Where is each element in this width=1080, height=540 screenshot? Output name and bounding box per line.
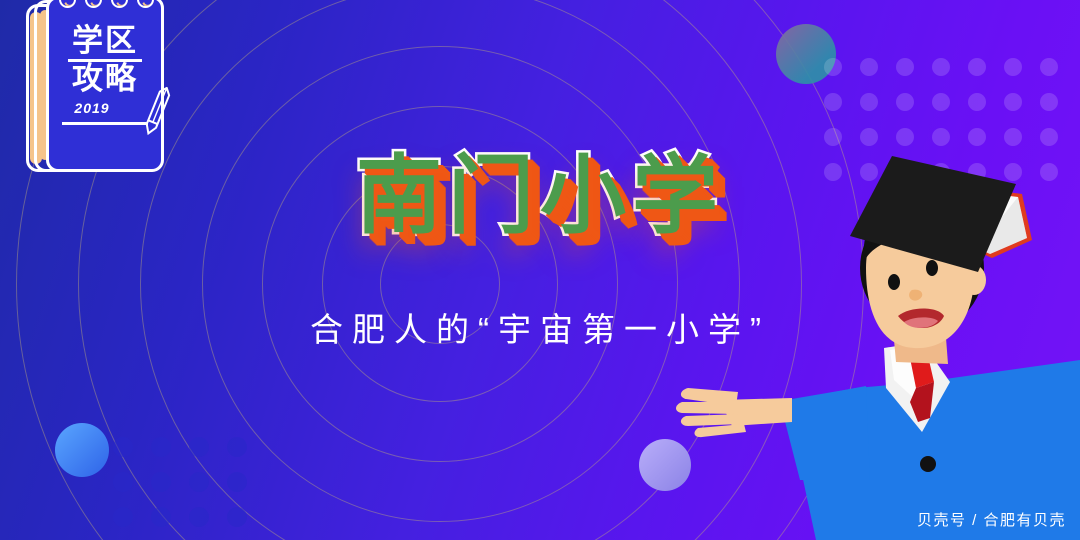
- spiral-ring: [111, 0, 128, 8]
- dot-grid-bottom-left: [113, 437, 265, 540]
- decorative-dot: [227, 437, 247, 457]
- decorative-dot: [1004, 93, 1022, 111]
- badge-line-2: 攻略: [72, 63, 138, 94]
- decorative-dot: [113, 472, 133, 492]
- robe-button: [920, 456, 936, 472]
- decorative-dot: [113, 507, 133, 527]
- ring: [202, 46, 678, 522]
- decorative-dot: [1040, 93, 1058, 111]
- decorative-dot: [896, 58, 914, 76]
- decorative-dot: [151, 437, 171, 457]
- decorative-dot: [968, 58, 986, 76]
- hand-icon: [676, 388, 792, 437]
- badge-line-1: 学区: [72, 25, 138, 56]
- spiral-ring: [85, 0, 102, 8]
- robe-sleeve: [780, 386, 870, 480]
- decorative-dot: [860, 58, 878, 76]
- decorative-dot: [968, 128, 986, 146]
- decorative-dot: [189, 437, 209, 457]
- decorative-dot: [932, 128, 950, 146]
- badge-rule-bottom: [62, 122, 148, 125]
- decorative-dot: [1040, 58, 1058, 76]
- decorative-dot: [1040, 128, 1058, 146]
- blue-gradient-circle: [55, 423, 109, 477]
- decorative-dot: [932, 93, 950, 111]
- decorative-dot: [151, 507, 171, 527]
- decorative-dot: [824, 128, 842, 146]
- decorative-dot: [932, 58, 950, 76]
- spiral-ring: [137, 0, 154, 8]
- decorative-dot: [860, 93, 878, 111]
- notepad-spiral-rings: [54, 0, 158, 16]
- spiral-ring: [59, 0, 76, 8]
- decorative-dot: [824, 58, 842, 76]
- decorative-dot: [227, 472, 247, 492]
- watermark: 贝壳号 / 合肥有贝壳: [917, 509, 1066, 530]
- graduate-student-illustration: [660, 150, 1080, 540]
- decorative-dot: [1004, 58, 1022, 76]
- decorative-dot: [860, 128, 878, 146]
- decorative-dot: [1004, 128, 1022, 146]
- decorative-dot: [113, 437, 133, 457]
- eye-left: [888, 274, 900, 290]
- pencil-icon: [139, 84, 174, 140]
- badge-year: 2019: [74, 100, 109, 116]
- decorative-dot: [189, 507, 209, 527]
- poster-canvas: 学区 攻略 2019 南门小学 合肥人的“宇宙第一小学”: [0, 0, 1080, 540]
- eye-right: [926, 260, 938, 276]
- decorative-dot: [896, 128, 914, 146]
- decorative-dot: [227, 507, 247, 527]
- decorative-dot: [151, 472, 171, 492]
- decorative-dot: [968, 93, 986, 111]
- notepad-cover: 学区 攻略 2019: [46, 0, 164, 172]
- decorative-dot: [824, 93, 842, 111]
- decorative-dot: [896, 93, 914, 111]
- decorative-dot: [189, 472, 209, 492]
